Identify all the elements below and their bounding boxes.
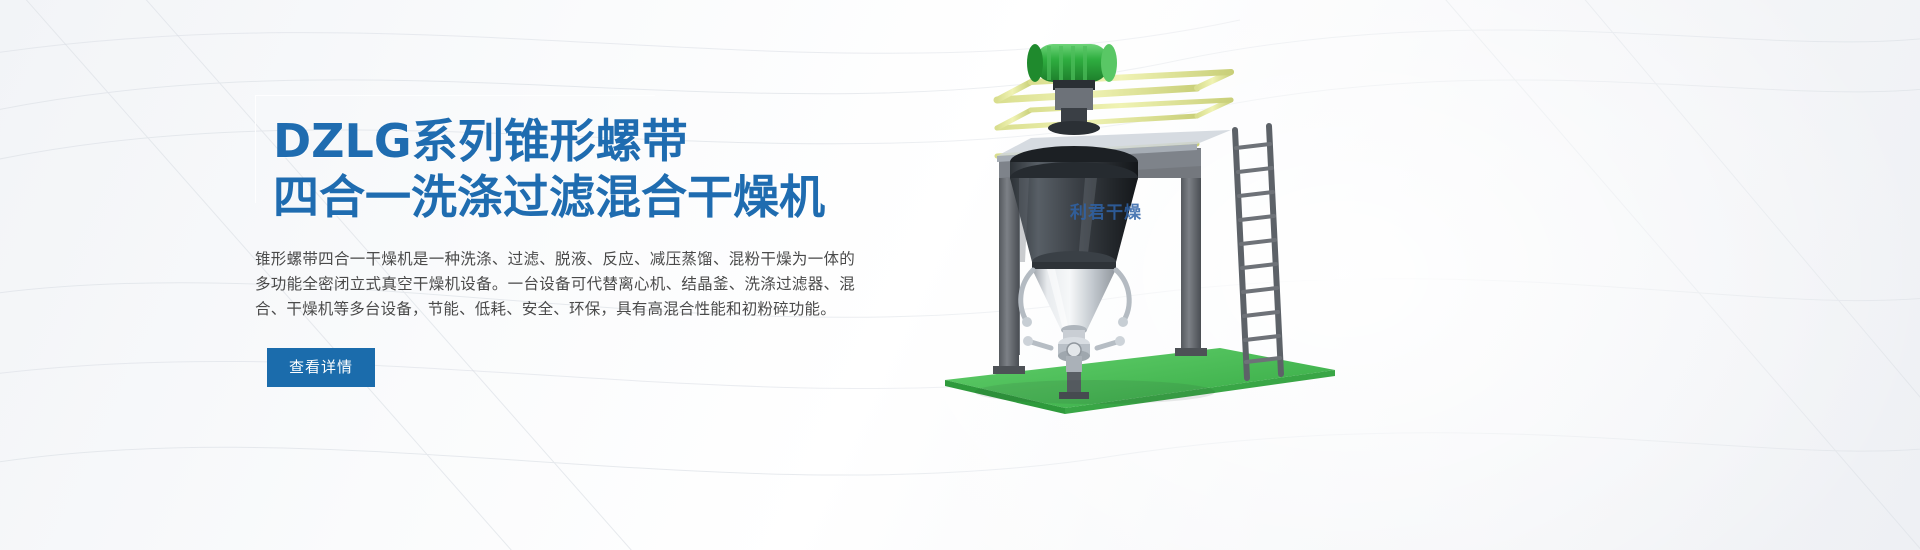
headline-line-1: DZLG系列锥形螺带: [273, 113, 895, 169]
gearbox: [1055, 88, 1093, 110]
dryer-machine-svg: [935, 30, 1355, 430]
banner-description: 锥形螺带四合一干燥机是一种洗涤、过滤、脱液、反应、减压蒸馏、混粉干燥为一体的多功…: [255, 247, 855, 322]
product-illustration: [935, 30, 1355, 430]
page-title: DZLG系列锥形螺带 四合一洗涤过滤混合干燥机: [273, 113, 895, 225]
frame-leg-right: [1181, 148, 1201, 353]
headline-line-2: 四合一洗涤过滤混合干燥机: [273, 169, 895, 225]
headline-wrapper: DZLG系列锥形螺带 四合一洗涤过滤混合干燥机: [255, 95, 895, 231]
view-details-button[interactable]: 查看详情: [267, 348, 375, 387]
hero-banner: DZLG系列锥形螺带 四合一洗涤过滤混合干燥机 锥形螺带四合一干燥机是一种洗涤、…: [0, 0, 1920, 550]
vessel-cone-lower: [1032, 269, 1116, 330]
vessel-cone-upper: [1010, 178, 1138, 262]
banner-content: DZLG系列锥形螺带 四合一洗涤过滤混合干燥机 锥形螺带四合一干燥机是一种洗涤、…: [255, 95, 895, 387]
